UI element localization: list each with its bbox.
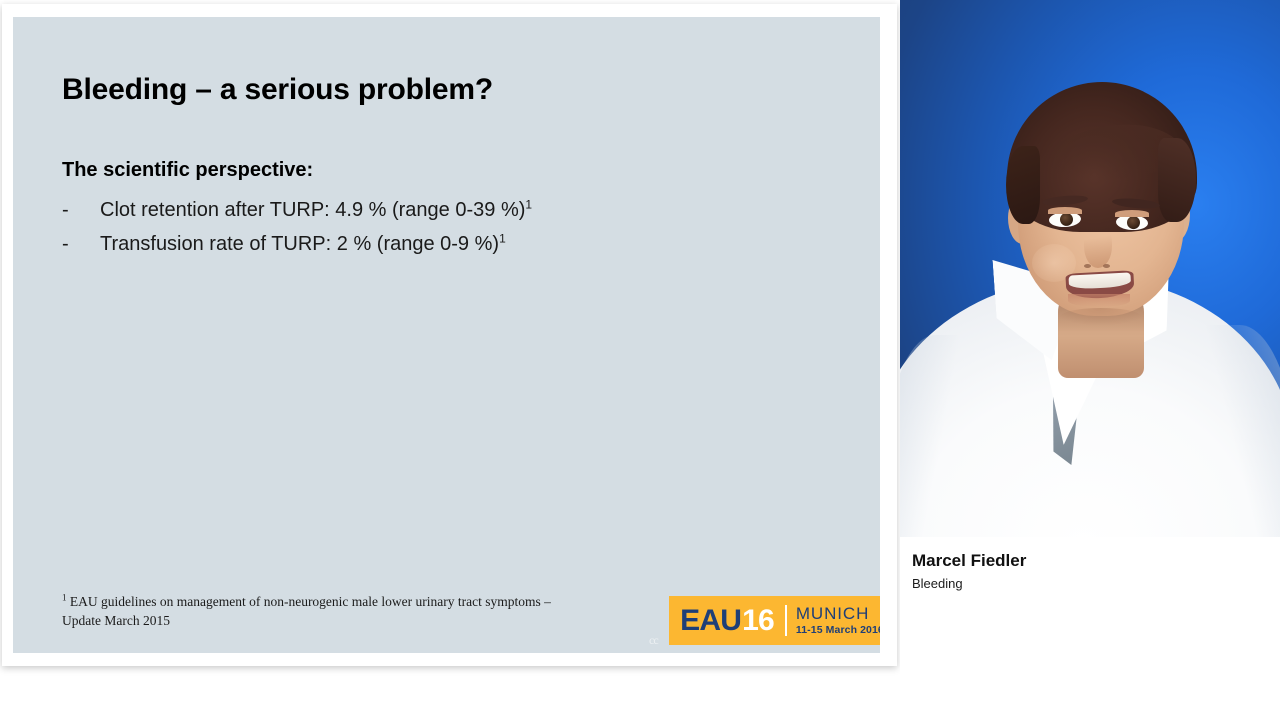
- iris-right: [1127, 216, 1141, 230]
- coat-shadow-left: [900, 335, 972, 537]
- bullet-marker: -: [62, 227, 100, 261]
- bullet-text: Clot retention after TURP: 4.9 % (range …: [100, 199, 525, 221]
- slide-frame: Bleeding – a serious problem? The scient…: [2, 4, 897, 666]
- speaker-video[interactable]: [900, 0, 1280, 537]
- eyelid-left: [1048, 207, 1082, 214]
- bullet-marker: -: [62, 193, 100, 227]
- chin-shadow: [1060, 308, 1142, 326]
- speaker-name: Marcel Fiedler: [912, 550, 1280, 571]
- citation-footnote: 1 EAU guidelines on management of non-ne…: [62, 592, 562, 630]
- list-item: - Clot retention after TURP: 4.9 % (rang…: [62, 193, 842, 227]
- logo-city-text: MUNICH: [796, 605, 880, 623]
- slide-title: Bleeding – a serious problem?: [62, 73, 493, 107]
- hair-side-left: [1006, 146, 1040, 224]
- bullet-text: Transfusion rate of TURP: 2 % (range 0-9…: [100, 233, 499, 255]
- coat-shadow-right: [1196, 325, 1280, 537]
- nose: [1084, 224, 1112, 268]
- logo-brand-text: EAU: [680, 606, 741, 636]
- logo-year-text: 16: [742, 606, 774, 636]
- nostril-left: [1084, 264, 1091, 268]
- speaker-panel: Marcel Fiedler Bleeding: [900, 0, 1280, 720]
- logo-inner: EAU 16 MUNICH 11-15 March 2016: [680, 605, 880, 637]
- eau16-logo: EAU 16 MUNICH 11-15 March 2016: [669, 596, 880, 645]
- speaker-info: Marcel Fiedler Bleeding: [900, 537, 1280, 593]
- slide-subheading: The scientific perspective:: [62, 159, 313, 182]
- bullet-content: Transfusion rate of TURP: 2 % (range 0-9…: [100, 227, 506, 261]
- lower-lip: [1068, 294, 1130, 307]
- bullet-content: Clot retention after TURP: 4.9 % (range …: [100, 193, 532, 227]
- logo-dates-text: 11-15 March 2016: [796, 624, 880, 637]
- bullet-list: - Clot retention after TURP: 4.9 % (rang…: [62, 193, 842, 261]
- bullet-superscript: 1: [499, 231, 506, 245]
- logo-location-block: MUNICH 11-15 March 2016: [796, 605, 880, 637]
- iris-left: [1060, 213, 1074, 227]
- slide-viewer[interactable]: Bleeding – a serious problem? The scient…: [0, 0, 900, 720]
- logo-divider: [785, 605, 787, 636]
- citation-text: EAU guidelines on management of non-neur…: [62, 594, 551, 628]
- bullet-superscript: 1: [525, 197, 532, 211]
- hair-side-right: [1158, 138, 1196, 222]
- speaker-topic: Bleeding: [912, 574, 1280, 593]
- presentation-player: Bleeding – a serious problem? The scient…: [0, 0, 1280, 720]
- slide-canvas: Bleeding – a serious problem? The scient…: [13, 17, 880, 653]
- teeth: [1068, 272, 1131, 289]
- nostril-right: [1103, 264, 1110, 268]
- speaker-portrait-image: [900, 0, 1280, 537]
- copyright-watermark: cc: [649, 633, 658, 648]
- eyelid-right: [1115, 210, 1149, 217]
- list-item: - Transfusion rate of TURP: 2 % (range 0…: [62, 227, 842, 261]
